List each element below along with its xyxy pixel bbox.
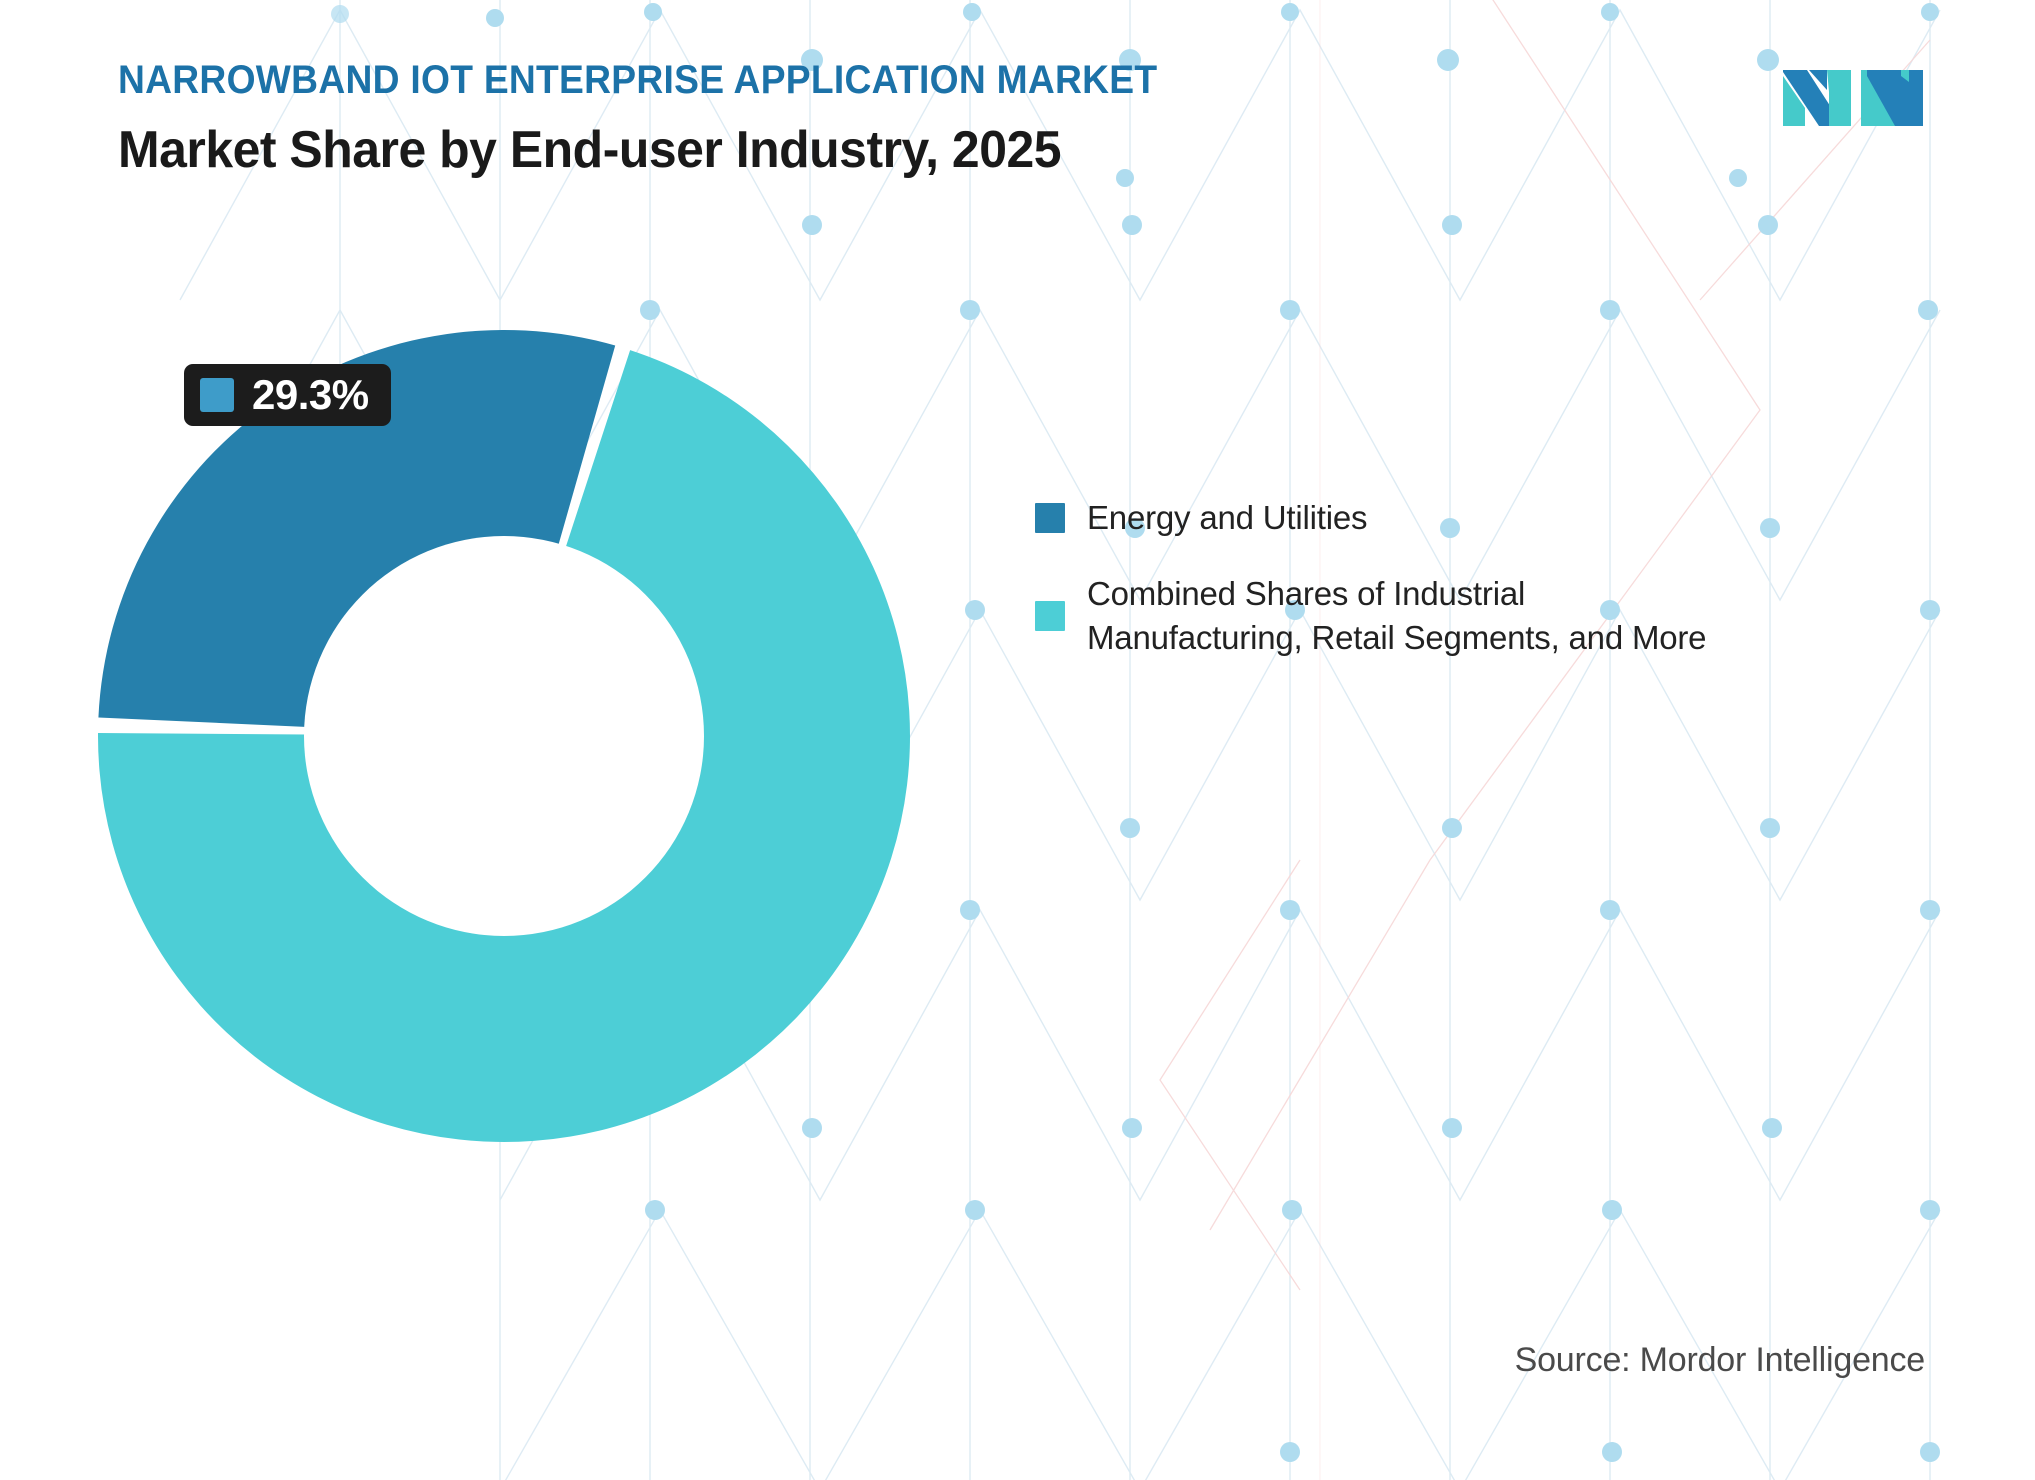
chart-eyebrow-title: NARROWBAND IOT ENTERPRISE APPLICATION MA… — [118, 60, 1513, 100]
chart-title: Market Share by End-user Industry, 2025 — [118, 124, 1558, 176]
legend-swatch-combined-shares — [1035, 601, 1065, 631]
mordor-intelligence-logo — [1783, 62, 1923, 134]
data-label-value: 29.3% — [252, 374, 369, 416]
legend-swatch-energy-and-utilities — [1035, 503, 1065, 533]
legend-item-combined-shares[interactable]: Combined Shares of Industrial Manufactur… — [1035, 572, 1735, 660]
donut-chart — [90, 322, 918, 1150]
data-label-tooltip[interactable]: 29.3% — [184, 364, 391, 426]
data-label-swatch — [200, 378, 234, 412]
source-attribution: Source: Mordor Intelligence — [1515, 1341, 1925, 1380]
chart-canvas: NARROWBAND IOT ENTERPRISE APPLICATION MA… — [0, 0, 2035, 1480]
chart-legend: Energy and Utilities Combined Shares of … — [1035, 496, 1735, 692]
chart-header: NARROWBAND IOT ENTERPRISE APPLICATION MA… — [118, 60, 1618, 176]
donut-hole — [304, 536, 704, 936]
legend-label-energy-and-utilities: Energy and Utilities — [1087, 496, 1367, 540]
mi-monogram-icon — [1783, 62, 1923, 134]
legend-label-combined-shares: Combined Shares of Industrial Manufactur… — [1087, 572, 1735, 660]
legend-item-energy-and-utilities[interactable]: Energy and Utilities — [1035, 496, 1735, 540]
